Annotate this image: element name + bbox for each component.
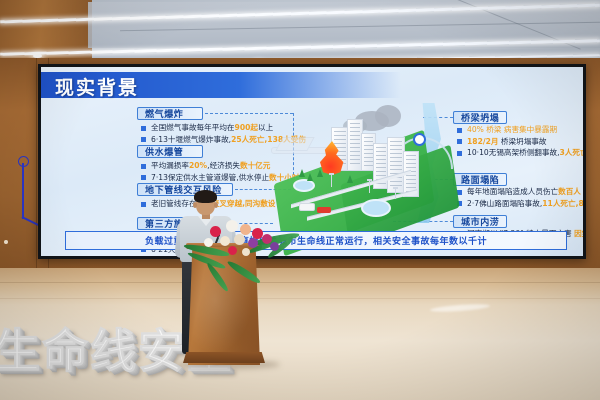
wall-fixture (4, 240, 8, 244)
tree-icon (317, 169, 323, 177)
isometric-city-illustration (273, 103, 488, 243)
bullet-text: 平均漏损率20%,经济损失数十亿元 (151, 161, 270, 171)
truck-icon (299, 203, 315, 211)
floor-letter: 安 (138, 328, 184, 374)
slide-banner: 负载过重，带病运行，直接威胁城市生命线正常运行，相关安全事故每年数以千计 (65, 231, 567, 250)
floor-letter: 线 (90, 328, 136, 374)
section-header-water-pipe-burst: 供水爆管 (137, 145, 203, 158)
presentation-slide: 现实背景 燃气爆炸 全国燃气事故每年平均在900起以上 6·13十堰燃气爆炸事故… (41, 67, 583, 256)
street-pole (331, 173, 332, 187)
tree-icon (347, 175, 353, 183)
bullet-square (141, 175, 146, 180)
page-title: 现实背景 (55, 73, 139, 100)
floral-arrangement (182, 216, 300, 276)
pond (361, 199, 391, 217)
street-pole (369, 179, 370, 193)
wall-cable (22, 163, 24, 219)
speaker-hair (194, 190, 217, 203)
speaker-ear (214, 202, 218, 208)
bullet-square (141, 137, 146, 142)
floor-letter: 生 (0, 328, 40, 374)
tree-icon (307, 173, 313, 181)
wall-seam (36, 58, 37, 270)
section-header-underground-pipeline-risk: 地下管线交互风险 (137, 183, 233, 196)
projection-screen[interactable]: 现实背景 燃气爆炸 全国燃气事故每年平均在900起以上 6·13十堰燃气爆炸事故… (38, 64, 586, 259)
bridge-marker-icon[interactable] (413, 133, 426, 146)
bullet-square (141, 202, 146, 207)
cloud-icon (375, 105, 401, 127)
cable-ring (18, 156, 29, 167)
floor-letter: 命 (42, 328, 88, 374)
tree-icon (299, 169, 305, 177)
conference-room-scene: 现实背景 燃气爆炸 全国燃气事故每年平均在900起以上 6·13十堰燃气爆炸事故… (0, 0, 600, 400)
podium-base (183, 352, 265, 363)
car-icon (317, 207, 331, 213)
street-pole (395, 187, 396, 199)
aircraft-icon (261, 137, 333, 163)
bullet-square (141, 126, 146, 131)
section-header-gas-explosion: 燃气爆炸 (137, 107, 203, 120)
bullet-square (141, 164, 146, 169)
bullet-text: 全国燃气事故每年平均在900起以上 (151, 123, 273, 133)
speaker-ear (193, 202, 197, 208)
